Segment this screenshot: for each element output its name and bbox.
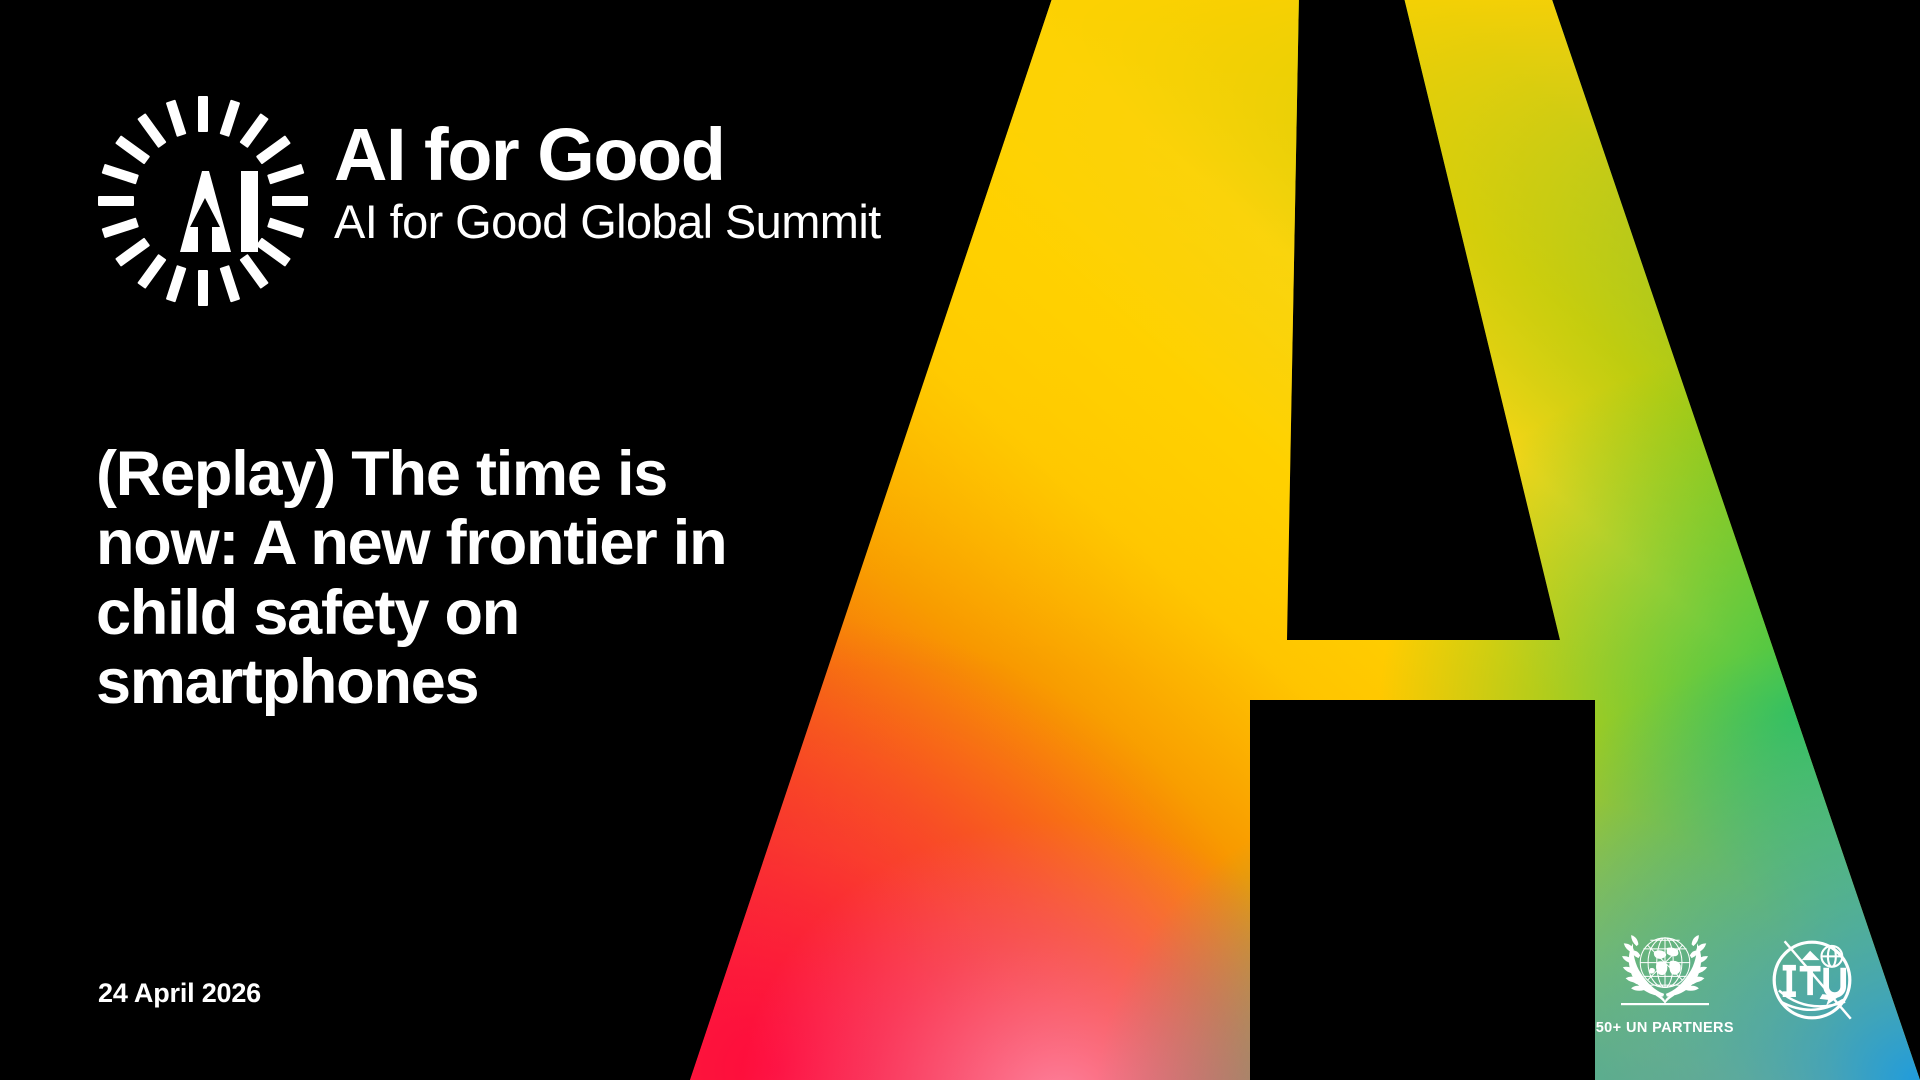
session-date: 24 April 2026 [98,978,261,1009]
united-nations-emblem-icon [1610,924,1720,1016]
itu-block [1760,928,1864,1036]
brand-title: AI for Good [334,120,881,190]
promo-banner: AI for Good AI for Good Global Summit (R… [0,0,1920,1080]
brand-lockup: AI for Good AI for Good Global Summit [96,94,881,308]
un-partners-block: 50+ UN PARTNERS [1596,924,1734,1036]
partner-logos: 50+ UN PARTNERS [1596,924,1864,1036]
brand-subtitle: AI for Good Global Summit [334,196,881,248]
itu-logo-icon [1760,928,1864,1032]
content-column: AI for Good AI for Good Global Summit (R… [0,0,700,1080]
session-title: (Replay) The time is now: A new frontier… [96,440,786,717]
ai-for-good-circular-logo-icon [96,94,310,308]
brand-wordmark: AI for Good AI for Good Global Summit [334,120,881,248]
un-partners-label: 50+ UN PARTNERS [1596,1020,1734,1036]
